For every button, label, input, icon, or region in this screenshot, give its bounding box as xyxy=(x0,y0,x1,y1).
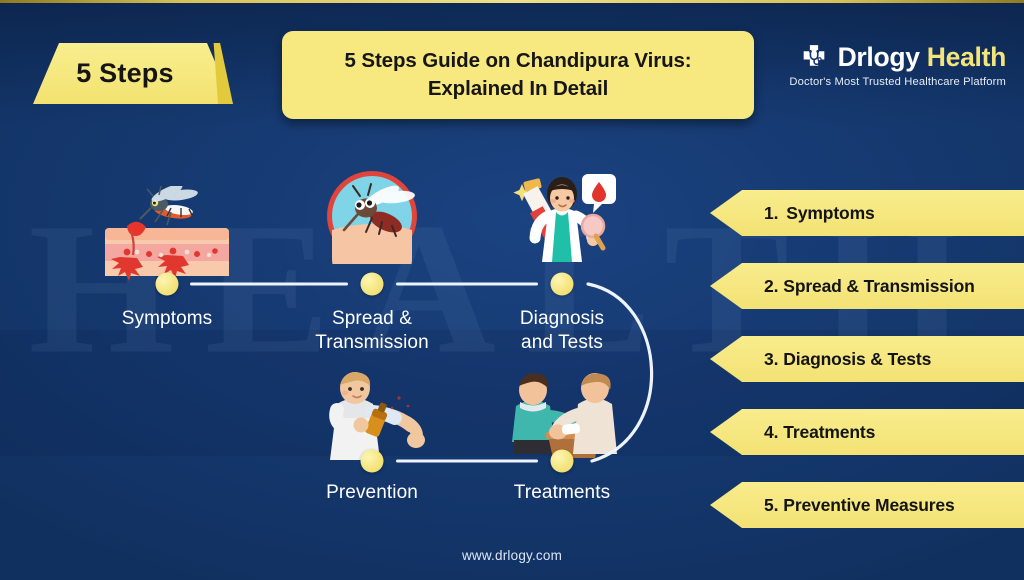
step-list-item-2-label: Spread & Transmission xyxy=(778,276,974,297)
step-list-item-2[interactable]: 2. Spread & Transmission xyxy=(710,263,1024,309)
step-list-item-3-label: Diagnosis & Tests xyxy=(778,349,931,370)
node-label-symptoms: Symptoms xyxy=(122,307,213,331)
node-dot-prevention[interactable] xyxy=(361,450,384,473)
top-gold-rule xyxy=(0,0,1024,3)
link-symptoms-to-spread xyxy=(190,283,348,286)
step-list-item-5-label: Preventive Measures xyxy=(778,495,954,516)
step-list: 1. Symptoms 2. Spread & Transmission 3. … xyxy=(700,0,1024,580)
node-dot-treatments[interactable] xyxy=(551,450,574,473)
page-title: 5 Steps Guide on Chandipura Virus: Expla… xyxy=(282,47,754,104)
node-label-prevention: Prevention xyxy=(326,481,418,505)
node-label-spread: Spread & Transmission xyxy=(315,307,428,356)
step-list-item-3-number: 3. xyxy=(764,349,778,370)
step-list-item-5-number: 5. xyxy=(764,495,778,516)
title-card: 5 Steps Guide on Chandipura Virus: Expla… xyxy=(282,31,754,119)
node-dot-symptoms[interactable] xyxy=(156,273,179,296)
step-list-item-1-label: Symptoms xyxy=(778,203,874,224)
five-steps-badge: 5 Steps xyxy=(33,43,233,104)
step-list-item-4[interactable]: 4. Treatments xyxy=(710,409,1024,455)
footer-website-url[interactable]: www.drlogy.com xyxy=(0,548,1024,563)
step-list-item-2-number: 2. xyxy=(764,276,778,297)
node-label-treatments: Treatments xyxy=(514,481,610,505)
infographic-canvas: HEALTH 5 Steps 5 Steps Guide on Chandipu… xyxy=(0,0,1024,580)
step-list-item-5[interactable]: 5. Preventive Measures xyxy=(710,482,1024,528)
node-dot-diagnosis[interactable] xyxy=(551,273,574,296)
node-dot-spread[interactable] xyxy=(361,273,384,296)
step-list-item-1[interactable]: 1. Symptoms xyxy=(710,190,1024,236)
node-label-diagnosis: Diagnosis and Tests xyxy=(520,307,604,356)
five-steps-badge-label: 5 Steps xyxy=(33,43,233,104)
step-list-item-4-label: Treatments xyxy=(778,422,875,443)
step-list-item-1-number: 1. xyxy=(764,203,778,224)
link-spread-to-diagnosis xyxy=(396,283,538,286)
step-list-item-3[interactable]: 3. Diagnosis & Tests xyxy=(710,336,1024,382)
step-list-item-4-number: 4. xyxy=(764,422,778,443)
link-prevention-to-treatments xyxy=(396,460,538,463)
